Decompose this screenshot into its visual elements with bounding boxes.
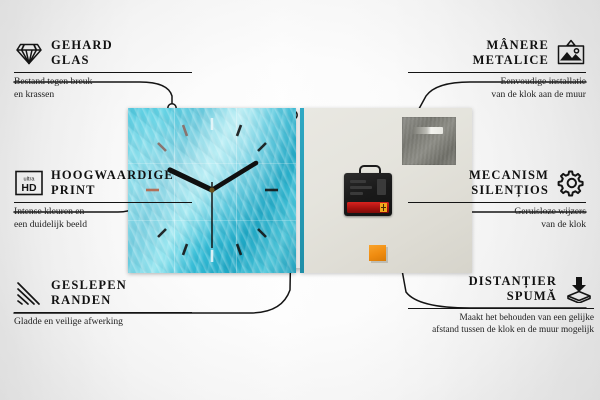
foam-spacer-sticker [369, 245, 386, 261]
feature-title: GESLEPEN RANDEN [51, 278, 127, 309]
product-infographic: GEHARD GLAS Bestand tegen breuk en krass… [0, 0, 600, 400]
feature-title: MÂNERE METALICE [473, 38, 549, 69]
feature-hoogwaardige-print: ultra HD HOOGWAARDIGE PRINT Intense kleu… [14, 166, 192, 232]
feature-description: Bestand tegen breuk en krassen [14, 76, 192, 102]
hands-hub [209, 187, 214, 192]
feature-title: MECANISM SILENȚIOS [469, 168, 549, 199]
feature-divider [14, 312, 192, 313]
feature-title: DISTANȚIER SPUMĂ [469, 274, 557, 305]
feature-title: HOOGWAARDIGE PRINT [51, 168, 174, 199]
hanging-picture-icon [556, 38, 586, 68]
gear-icon [556, 168, 586, 198]
feature-mecanism-silentios: MECANISM SILENȚIOS Geruisloze wijzers va… [408, 166, 586, 232]
clock-movement-box [344, 170, 392, 216]
feature-description: Maakt het behouden van een gelijke afsta… [408, 312, 594, 337]
feature-divider [14, 202, 192, 203]
feature-description: Eenvoudige installatie van de klok aan d… [408, 76, 586, 102]
battery-plus-terminal [380, 203, 387, 212]
feature-gehard-glas: GEHARD GLAS Bestand tegen breuk en krass… [14, 36, 192, 102]
feature-divider [14, 72, 192, 73]
feature-divider [408, 72, 586, 73]
foam-spacer-icon [564, 274, 594, 304]
minute-hand [212, 163, 256, 190]
battery [347, 202, 389, 213]
svg-text:HD: HD [21, 182, 37, 194]
feature-distantier-spuma: DISTANȚIER SPUMĂ Maakt het behouden van … [408, 272, 594, 337]
feature-description: Geruisloze wijzers van de klok [408, 206, 586, 232]
feature-geslepen-randen: GESLEPEN RANDEN Gladde en veilige afwerk… [14, 276, 192, 329]
feature-description: Gladde en veilige afwerking [14, 316, 192, 329]
ultra-hd-icon: ultra HD [14, 168, 44, 198]
feature-divider [408, 308, 594, 309]
feature-manere-metalice: MÂNERE METALICE Eenvoudige installatie v… [408, 36, 586, 102]
glass-edge-strip [300, 108, 304, 273]
metal-bracket-detail-photo [402, 117, 456, 165]
feature-title: GEHARD GLAS [51, 38, 113, 69]
beveled-edges-icon [14, 278, 44, 308]
diamond-icon [14, 38, 44, 68]
feature-divider [408, 202, 586, 203]
feature-description: Intense kleuren en een duidelijk beeld [14, 206, 192, 232]
